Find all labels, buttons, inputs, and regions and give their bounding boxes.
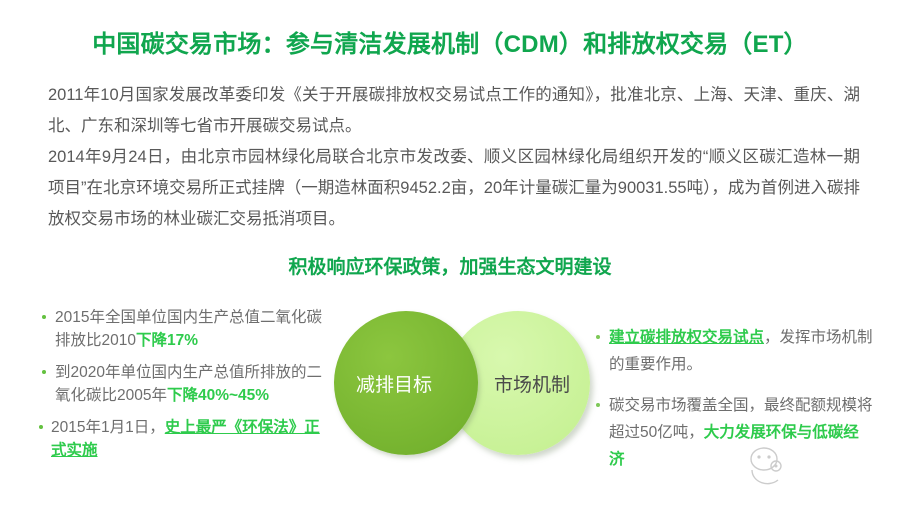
body-paragraph-1: 2011年10月国家发展改革委印发《关于开展碳排放权交易试点工作的通知》，批准北… <box>48 80 860 142</box>
body-text-block: 2011年10月国家发展改革委印发《关于开展碳排放权交易试点工作的通知》，批准北… <box>48 80 860 235</box>
face-logo-watermark <box>742 444 798 496</box>
list-item: 2015年全国单位国内生产总值二氧化碳排放比2010下降17% <box>38 306 328 352</box>
bullet-text-highlight: 下降17% <box>136 332 198 349</box>
right-bullet-column: 建立碳排放权交易试点，发挥市场机制的重要作用。 碳交易市场覆盖全国，最终配额规模… <box>592 324 874 487</box>
list-item: 建立碳排放权交易试点，发挥市场机制的重要作用。 <box>592 324 874 378</box>
body-paragraph-2: 2014年9月24日，由北京市园林绿化局联合北京市发改委、顺义区园林绿化局组织开… <box>48 142 860 235</box>
venn-circle-left-label: 减排目标 <box>356 370 432 397</box>
list-item: 碳交易市场覆盖全国，最终配额规模将超过50亿吨，大力发展环保与低碳经济 <box>592 392 874 473</box>
list-item: 到2020年单位国内生产总值所排放的二氧化碳比2005年下降40%~45% <box>38 361 328 407</box>
list-item: 2015年1月1日，史上最严《环保法》正式实施 <box>38 416 328 462</box>
venn-circle-left: 减排目标 <box>334 311 478 455</box>
section-heading: 积极响应环保政策，加强生态文明建设 <box>0 252 900 279</box>
bullet-text-plain: 2015年1月1日， <box>51 419 165 436</box>
page-title: 中国碳交易市场：参与清洁发展机制（CDM）和排放权交易（ET） <box>0 24 900 59</box>
bullet-text-highlight: 建立碳排放权交易试点 <box>609 329 764 346</box>
left-bullet-column: 2015年全国单位国内生产总值二氧化碳排放比2010下降17% 到2020年单位… <box>38 306 328 471</box>
venn-diagram: 减排目标 市场机制 <box>334 311 590 457</box>
venn-circle-right-label: 市场机制 <box>494 370 570 397</box>
bullet-text-highlight: 下降40%~45% <box>167 387 269 404</box>
slide-canvas: 中国碳交易市场：参与清洁发展机制（CDM）和排放权交易（ET） 2011年10月… <box>0 0 900 506</box>
